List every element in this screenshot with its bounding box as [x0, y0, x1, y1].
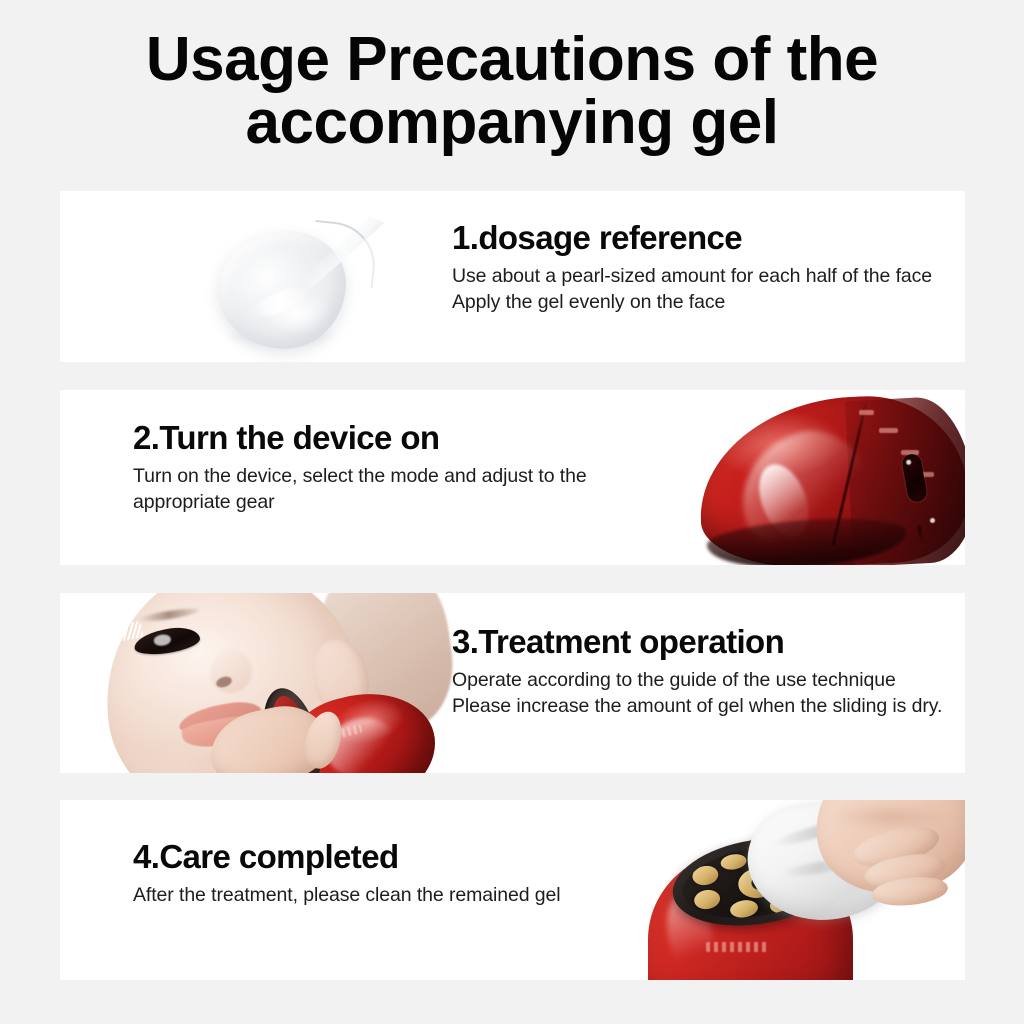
hand-shadow	[836, 804, 946, 830]
electrode-pad	[693, 888, 722, 911]
device-indicator-marks	[855, 406, 951, 490]
electrode-pad	[729, 898, 759, 919]
step-4-text-block: 4.Care completed After the treatment, pl…	[133, 838, 653, 909]
device-brand-logo	[706, 942, 768, 952]
woman-using-device-on-face-image	[60, 593, 460, 773]
step-card-2: 2.Turn the device on Turn on the device,…	[60, 390, 965, 565]
step-3-heading: 3.Treatment operation	[452, 623, 957, 661]
device-led-indicator	[930, 518, 935, 523]
step-1-text-block: 1.dosage reference Use about a pearl-siz…	[452, 219, 952, 316]
infographic-page: Usage Precautions of the accompanying ge…	[0, 0, 1024, 1024]
step-4-heading: 4.Care completed	[133, 838, 653, 876]
step-1-heading: 1.dosage reference	[452, 219, 952, 257]
electrode-pad	[691, 864, 720, 887]
red-beauty-device-image	[691, 392, 965, 565]
step-1-body: Use about a pearl-sized amount for each …	[452, 264, 952, 316]
step-card-3: 3.Treatment operation Operate according …	[60, 593, 965, 773]
step-3-text-block: 3.Treatment operation Operate according …	[452, 623, 957, 720]
gel-droplet-image	[200, 199, 420, 359]
electrode-pad	[720, 852, 748, 871]
step-2-heading: 2.Turn the device on	[133, 419, 653, 457]
nose	[210, 649, 252, 693]
step-card-4: 4.Care completed After the treatment, pl…	[60, 800, 965, 980]
step-card-1: 1.dosage reference Use about a pearl-siz…	[60, 191, 965, 362]
device-mark	[859, 410, 874, 415]
step-4-body: After the treatment, please clean the re…	[133, 883, 653, 909]
page-title: Usage Precautions of the accompanying ge…	[0, 28, 1024, 154]
device-mark	[879, 428, 898, 433]
step-3-body: Operate according to the guide of the us…	[452, 668, 957, 720]
hand-cleaning-device-with-cloth-image	[620, 800, 965, 980]
step-2-text-block: 2.Turn the device on Turn on the device,…	[133, 419, 653, 516]
step-2-body: Turn on the device, select the mode and …	[133, 464, 653, 516]
